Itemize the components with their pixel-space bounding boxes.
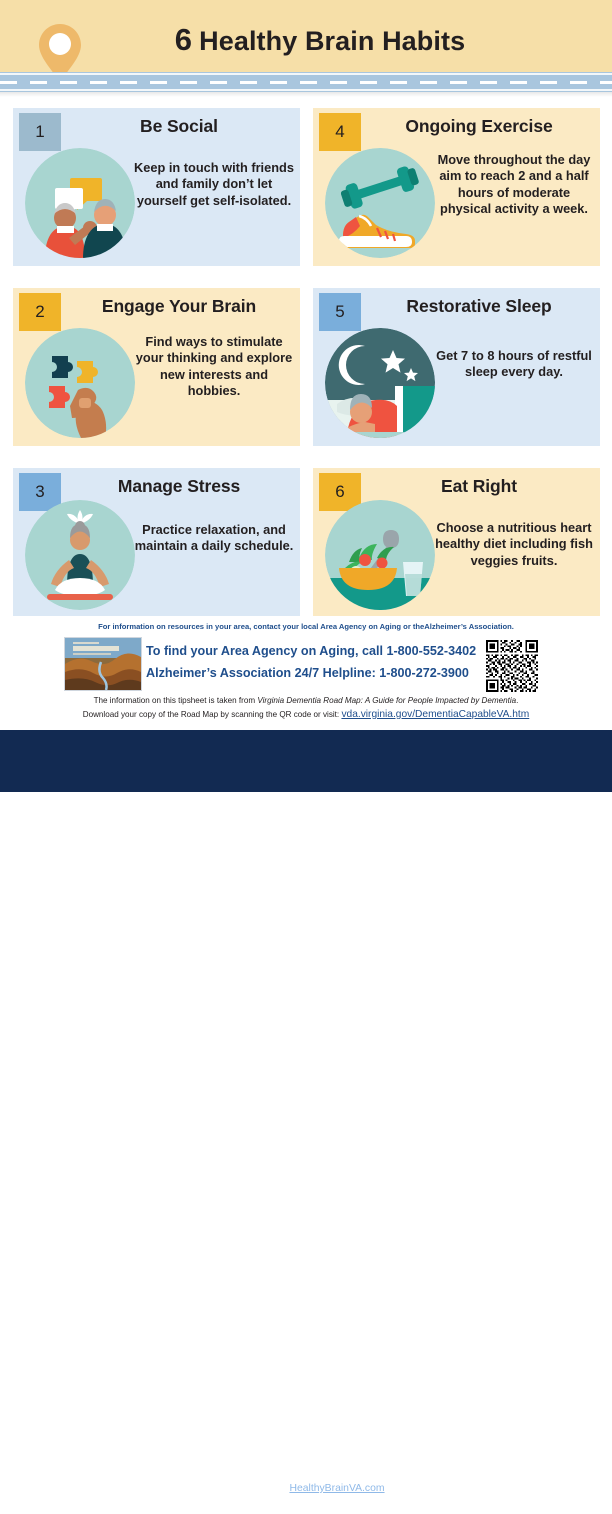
alzheimers-helpline-line: Alzheimer’s Association 24/7 Helpline: 1…	[146, 662, 476, 684]
sleeping-moon-stars-icon	[325, 328, 435, 438]
habits-grid: 1 Be Social	[13, 108, 600, 616]
page-header: 6Healthy Brain Habits	[0, 0, 612, 72]
road-map-url-link[interactable]: vda.virginia.gov/DementiaCapableVA.htm	[341, 709, 529, 720]
page-title: 6Healthy Brain Habits	[0, 22, 612, 58]
habit-title-2: Engage Your Brain	[61, 296, 297, 317]
habit-title-4: Ongoing Exercise	[361, 116, 597, 137]
page-title-number: 6	[175, 22, 199, 57]
habit-number-badge-4: 4	[319, 113, 361, 151]
road-shadow	[0, 92, 612, 97]
habit-card-3: 3 Manage Stress	[13, 468, 300, 616]
habit-title-1: Be Social	[61, 116, 297, 137]
healthy-brain-site-link[interactable]: HealthyBrainVA.com	[0, 1483, 612, 1494]
habit-number-badge-5: 5	[319, 293, 361, 331]
site-link-text: HealthyBrainVA.com	[289, 1483, 384, 1494]
download-line: Download your copy of the Road Map by sc…	[0, 708, 612, 722]
habit-body-3: Practice relaxation, and maintain a dail…	[134, 522, 294, 555]
habit-body-6: Choose a nutritious heart healthy diet i…	[434, 520, 594, 569]
area-agency-phone-line: To find your Area Agency on Aging, call …	[146, 640, 476, 662]
habit-card-1: 1 Be Social	[13, 108, 300, 266]
habit-card-2: 2 Engage Your Brain Find ways to stimula…	[13, 288, 300, 446]
download-text: Download your copy of the Road Map by sc…	[83, 710, 342, 719]
habit-title-5: Restorative Sleep	[361, 296, 597, 317]
source-title: Virginia Dementia Road Map: A Guide for …	[257, 696, 516, 705]
road-edge-bottom	[0, 89, 612, 91]
habit-number-badge-1: 1	[19, 113, 61, 151]
page-title-text: Healthy Brain Habits	[199, 26, 465, 56]
road-edge-top	[0, 73, 612, 75]
dumbbell-sneaker-icon	[325, 148, 435, 258]
meditating-person-icon	[25, 500, 135, 610]
habit-card-5: 5 Restorative Sleep	[313, 288, 600, 446]
habit-body-4: Move throughout the day aim to reach 2 a…	[434, 152, 594, 218]
two-people-talking-icon	[25, 148, 135, 258]
source-line: The information on this tipsheet is take…	[0, 694, 612, 708]
road-dashes	[0, 81, 612, 84]
source-suffix: .	[516, 696, 518, 705]
puzzle-pieces-hand-icon	[25, 328, 135, 438]
resources-info-line: For information on resources in your are…	[0, 622, 612, 631]
source-prefix: The information on this tipsheet is take…	[94, 696, 258, 705]
habit-number-badge-2: 2	[19, 293, 61, 331]
road-band	[0, 72, 612, 92]
habit-card-6: 6 Eat Right	[313, 468, 600, 616]
dementia-road-map-booklet-cover	[64, 637, 142, 691]
habit-body-5: Get 7 to 8 hours of restful sleep every …	[434, 348, 594, 381]
bottom-bar: VDH VIRGINIA DEPARTMENT OF HEALTH Health…	[0, 730, 612, 792]
salad-bowl-water-icon	[325, 500, 435, 610]
habit-card-4: 4 Ongoing Exercise Move	[313, 108, 600, 266]
vdh-logo-line-3: OF HEALTH	[109, 1499, 148, 1506]
source-attribution: The information on this tipsheet is take…	[0, 694, 612, 721]
habit-title-3: Manage Stress	[61, 476, 297, 497]
qr-code-icon[interactable]	[484, 640, 540, 692]
habit-body-1: Keep in touch with friends and family do…	[134, 160, 294, 209]
habit-title-6: Eat Right	[361, 476, 597, 497]
habit-body-2: Find ways to stimulate your thinking and…	[134, 334, 294, 400]
contact-info: To find your Area Agency on Aging, call …	[146, 640, 476, 684]
